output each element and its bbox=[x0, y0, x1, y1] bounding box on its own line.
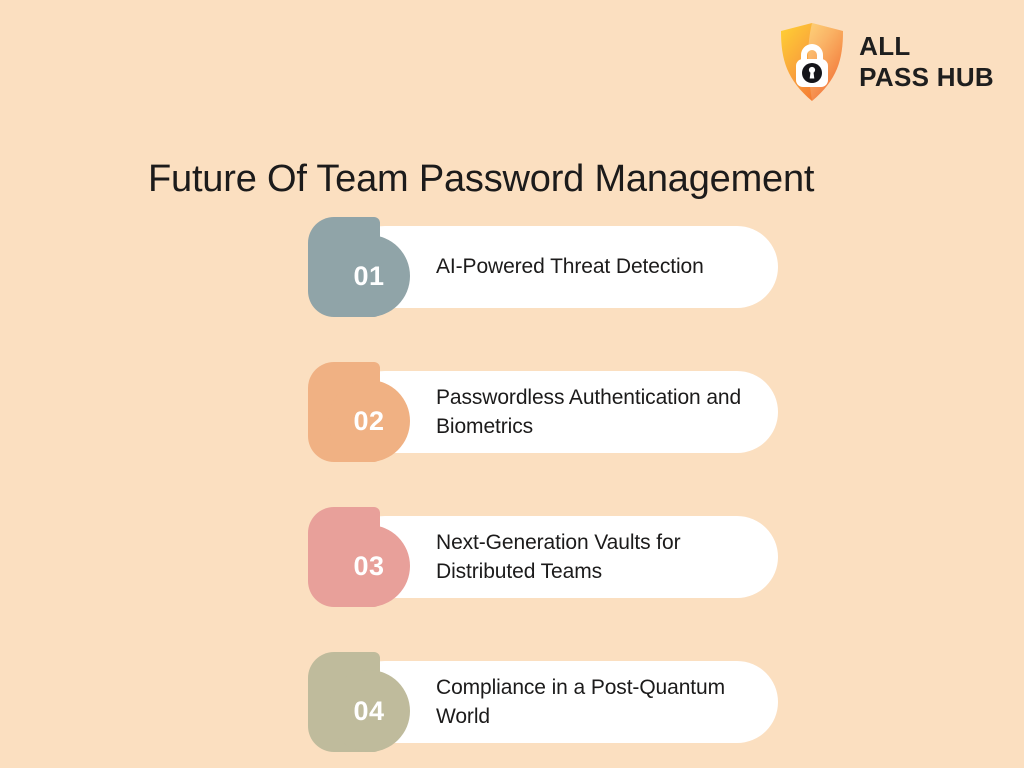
list-item-badge: 02 bbox=[328, 380, 410, 462]
feature-list: AI-Powered Threat Detection 01 Passwordl… bbox=[308, 226, 778, 743]
list-item-number: 03 bbox=[353, 553, 384, 580]
list-item[interactable]: AI-Powered Threat Detection 01 bbox=[308, 226, 778, 308]
brand-wordmark: ALL PASS HUB bbox=[859, 31, 994, 92]
shield-lock-icon bbox=[779, 22, 845, 102]
list-item-title: Compliance in a Post-Quantum World bbox=[436, 673, 756, 732]
page-title: Future Of Team Password Management bbox=[148, 158, 814, 201]
brand-line-1: ALL bbox=[859, 31, 994, 62]
list-item-title: Next-Generation Vaults for Distributed T… bbox=[436, 528, 756, 587]
list-item[interactable]: Compliance in a Post-Quantum World 04 bbox=[308, 661, 778, 743]
list-item-title: AI-Powered Threat Detection bbox=[436, 252, 704, 281]
list-item-number: 02 bbox=[353, 408, 384, 435]
list-item[interactable]: Passwordless Authentication and Biometri… bbox=[308, 371, 778, 453]
brand-logo: ALL PASS HUB bbox=[779, 22, 994, 102]
list-item-badge: 03 bbox=[328, 525, 410, 607]
list-item[interactable]: Next-Generation Vaults for Distributed T… bbox=[308, 516, 778, 598]
list-item-number: 04 bbox=[353, 698, 384, 725]
brand-line-2: PASS HUB bbox=[859, 62, 994, 93]
list-item-badge: 04 bbox=[328, 670, 410, 752]
list-item-number: 01 bbox=[353, 263, 384, 290]
list-item-title: Passwordless Authentication and Biometri… bbox=[436, 383, 756, 442]
list-item-badge: 01 bbox=[328, 235, 410, 317]
poster-canvas: ALL PASS HUB Future Of Team Password Man… bbox=[0, 0, 1024, 768]
